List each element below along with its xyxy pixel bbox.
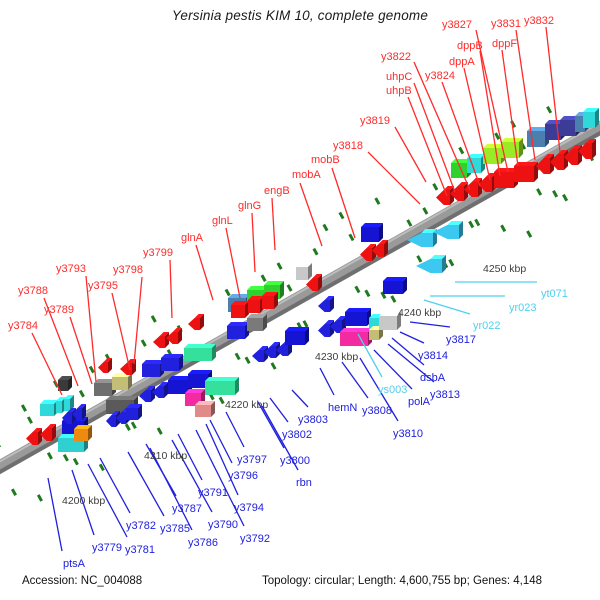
genome-map-viewer: Yersinia pestis KIM 10, complete genome …	[0, 0, 600, 600]
gene-label-blue[interactable]: rbn	[296, 478, 312, 489]
leader-line	[464, 68, 490, 180]
gene-label-blue[interactable]: y3781	[125, 545, 155, 556]
leader-line	[546, 27, 560, 152]
leader-line	[272, 198, 275, 250]
gene-label-blue[interactable]: y3803	[298, 415, 328, 426]
gene-label-blue[interactable]: y3782	[126, 521, 156, 532]
gene-label-red[interactable]: y3831	[491, 19, 521, 30]
leader-line	[395, 127, 426, 182]
leader-line	[170, 260, 172, 318]
gene-label-red[interactable]: y3789	[44, 305, 74, 316]
gene-label-red[interactable]: y3818	[333, 141, 363, 152]
gene-label-red[interactable]: engB	[264, 186, 290, 197]
gene-label-blue[interactable]: y3785	[160, 524, 190, 535]
gene-label-blue[interactable]: y3790	[208, 520, 238, 531]
label-leader-lines	[0, 0, 600, 600]
gene-label-red[interactable]: y3832	[524, 16, 554, 27]
gene-label-blue[interactable]: polA	[408, 397, 430, 408]
gene-label-blue[interactable]: y3800	[280, 456, 310, 467]
gene-label-blue[interactable]: y3786	[188, 538, 218, 549]
scale-tick-label: 4220 kbp	[225, 400, 268, 411]
genome-stats-text: Topology: circular; Length: 4,600,755 bp…	[262, 575, 542, 587]
scale-tick-label: 4210 kbp	[144, 451, 187, 462]
gene-label-red[interactable]: dppA	[449, 57, 475, 68]
leader-line	[270, 398, 288, 422]
gene-label-red[interactable]: y3793	[56, 264, 86, 275]
leader-line	[32, 333, 62, 395]
gene-label-red[interactable]: y3795	[88, 281, 118, 292]
gene-label-blue[interactable]: ptsA	[63, 559, 85, 570]
gene-label-blue[interactable]: y3813	[430, 390, 460, 401]
gene-label-red[interactable]: y3822	[381, 52, 411, 63]
gene-label-blue[interactable]: y3808	[362, 406, 392, 417]
gene-label-red[interactable]: glnA	[181, 233, 203, 244]
leader-line	[342, 362, 368, 398]
gene-label-red[interactable]: dppF	[492, 39, 517, 50]
gene-label-blue[interactable]: y3802	[282, 430, 312, 441]
scale-tick-label: 4240 kbp	[398, 308, 441, 319]
scale-tick-label: 4250 kbp	[483, 264, 526, 275]
leader-line	[134, 277, 142, 364]
gene-label-red[interactable]: y3819	[360, 116, 390, 127]
leader-line	[292, 390, 308, 407]
leader-line	[48, 478, 62, 551]
gene-label-red[interactable]: mobA	[292, 170, 321, 181]
gene-label-blue[interactable]: hemN	[328, 403, 357, 414]
gene-label-red[interactable]: glnG	[238, 201, 261, 212]
gene-label-blue[interactable]: y3792	[240, 534, 270, 545]
accession-text: Accession: NC_004088	[22, 575, 142, 587]
gene-label-blue[interactable]: y3787	[172, 504, 202, 515]
leader-line	[196, 245, 213, 300]
gene-label-red[interactable]: y3824	[425, 71, 455, 82]
leader-line	[320, 368, 334, 395]
gene-label-red[interactable]: y3827	[442, 20, 472, 31]
leader-line	[226, 412, 244, 447]
gene-label-blue[interactable]: y3817	[446, 335, 476, 346]
leader-line	[226, 228, 240, 298]
gene-label-blue[interactable]: y3796	[228, 471, 258, 482]
gene-label-red[interactable]: y3798	[113, 265, 143, 276]
gene-label-red[interactable]: uhpC	[386, 72, 412, 83]
leader-line	[252, 213, 255, 272]
leader-line	[300, 183, 322, 246]
gene-label-red[interactable]: dppB	[457, 41, 483, 52]
gene-label-blue[interactable]: y3779	[92, 543, 122, 554]
gene-label-rna[interactable]: yt071	[541, 289, 568, 300]
leader-line	[480, 51, 500, 176]
gene-label-rna[interactable]: yr022	[473, 321, 501, 332]
leader-line	[408, 97, 447, 196]
leader-line	[358, 334, 382, 377]
leader-line	[332, 168, 355, 238]
leader-line	[368, 152, 420, 204]
gene-label-blue[interactable]: y3797	[237, 455, 267, 466]
leader-line	[516, 30, 535, 160]
leader-line	[400, 332, 424, 343]
gene-label-red[interactable]: y3788	[18, 286, 48, 297]
gene-label-blue[interactable]: y3794	[234, 503, 264, 514]
gene-label-red[interactable]: y3784	[8, 321, 38, 332]
scale-tick-label: 4200 kbp	[62, 496, 105, 507]
gene-label-rna[interactable]: yr023	[509, 303, 537, 314]
gene-label-red[interactable]: glnL	[212, 216, 233, 227]
leader-line	[410, 322, 450, 327]
gene-label-blue[interactable]: y3814	[418, 351, 448, 362]
scale-tick-label: 4230 kbp	[315, 352, 358, 363]
gene-label-red[interactable]: uhpB	[386, 86, 412, 97]
gene-label-rna[interactable]: ys003	[378, 385, 407, 396]
gene-label-red[interactable]: mobB	[311, 155, 340, 166]
gene-label-blue[interactable]: y3791	[198, 488, 228, 499]
gene-label-red[interactable]: y3799	[143, 248, 173, 259]
leader-line	[112, 293, 130, 370]
leader-line	[502, 50, 518, 166]
gene-label-blue[interactable]: dsbA	[420, 373, 445, 384]
gene-label-blue[interactable]: y3810	[393, 429, 423, 440]
